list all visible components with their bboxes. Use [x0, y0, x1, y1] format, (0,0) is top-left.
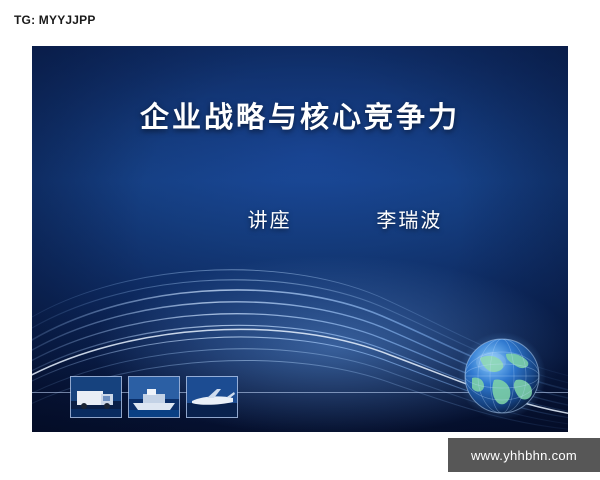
slide-title-text: 企业战略与核心竞争力 — [32, 94, 568, 136]
subtitle-author: 李瑞波 — [376, 208, 442, 232]
presentation-slide: 企业战略与核心竞争力 讲座 李瑞波 — [32, 46, 568, 432]
website-watermark: www.yhhbhn.com — [448, 438, 600, 472]
plane-photo — [186, 376, 238, 418]
telegram-watermark-tag: TG: MYYJJPP — [8, 10, 103, 30]
subtitle-label: 讲座 — [248, 208, 292, 232]
truck-photo — [70, 376, 122, 418]
website-url-text: www.yhhbhn.com — [471, 448, 577, 463]
ship-photo — [128, 376, 180, 418]
globe-graphic — [458, 332, 546, 420]
slide-subtitle: 讲座 李瑞波 — [32, 204, 568, 233]
